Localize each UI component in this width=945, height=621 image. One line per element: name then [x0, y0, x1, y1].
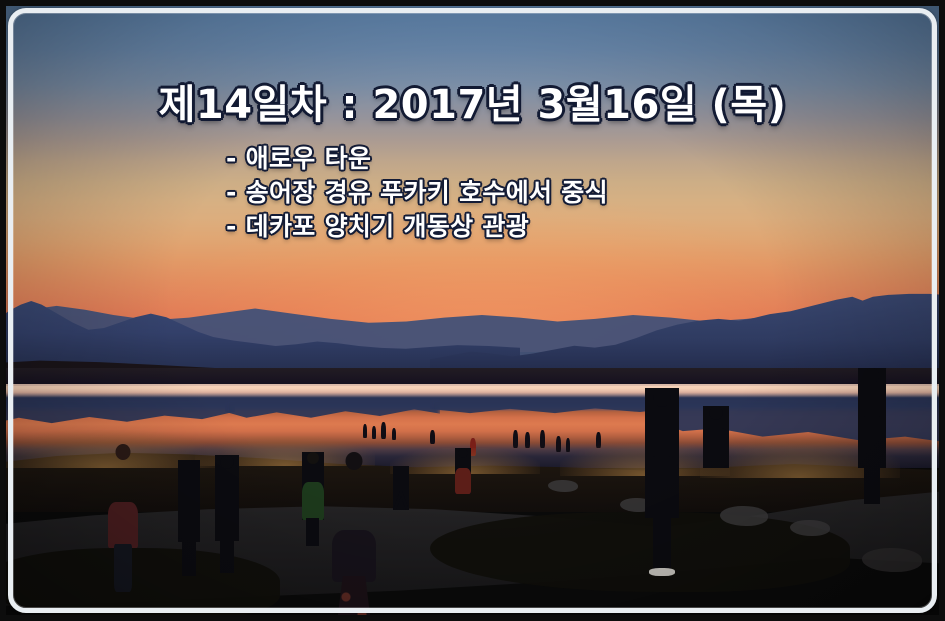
distant-figure: [513, 430, 518, 448]
distant-figure: [392, 428, 396, 440]
person-silhouette-kneeling: [703, 406, 729, 468]
person-silhouette: [215, 455, 239, 541]
distant-figure: [381, 422, 386, 439]
distant-figure: [430, 430, 435, 444]
person-silhouette-photographer: [645, 388, 679, 518]
distant-figure: [556, 436, 561, 452]
person-silhouette-dress: [332, 452, 376, 582]
person-silhouette-standing: [858, 368, 886, 468]
distant-figure: [372, 426, 376, 439]
distant-figure: [566, 438, 570, 452]
person-silhouette-green: [302, 452, 324, 520]
slide-canvas: 제14일차 : 2017년 3월16일 (목) - 애로우 타운 - 송어장 경…: [0, 0, 945, 621]
sky-gradient: [0, 0, 945, 352]
distant-figure: [596, 432, 601, 448]
person-silhouette-small: [455, 448, 471, 494]
distant-figure: [525, 432, 530, 448]
background-photograph: [0, 0, 945, 621]
rock: [548, 480, 578, 492]
rock: [720, 506, 768, 526]
tripod-silhouette: [393, 466, 409, 510]
lake-highlight: [0, 386, 945, 398]
distant-figure: [540, 430, 545, 448]
person-silhouette: [108, 444, 138, 548]
rock: [862, 548, 922, 572]
grass-patch: [0, 548, 280, 621]
rock: [790, 520, 830, 536]
person-silhouette: [178, 460, 200, 542]
distant-figure: [363, 424, 367, 438]
